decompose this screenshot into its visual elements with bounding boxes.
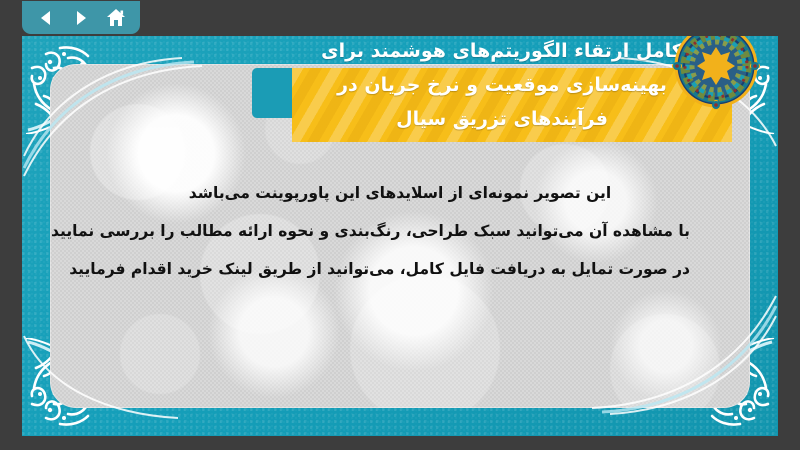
- bokeh-light: [120, 314, 200, 394]
- previous-button[interactable]: [33, 5, 59, 31]
- bokeh-light: [350, 274, 500, 408]
- home-icon: [106, 8, 126, 27]
- navigation-bar: [22, 1, 140, 34]
- body-line-3: در صورت تمایل به دریافت فایل کامل، می‌تو…: [110, 250, 690, 288]
- viewer-background: این تصویر نمونه‌ای از اسلایدهای این پاور…: [0, 0, 800, 450]
- slide-body-text: این تصویر نمونه‌ای از اسلایدهای این پاور…: [110, 174, 690, 288]
- triangle-right-icon: [72, 9, 90, 27]
- persian-medallion-ornament: [664, 36, 768, 118]
- slide-canvas: این تصویر نمونه‌ای از اسلایدهای این پاور…: [22, 36, 778, 436]
- triangle-left-icon: [37, 9, 55, 27]
- body-line-1: این تصویر نمونه‌ای از اسلایدهای این پاور…: [110, 174, 690, 212]
- bokeh-light: [610, 314, 720, 408]
- body-line-2: با مشاهده آن می‌توانید سبک طراحی، رنگ‌بن…: [110, 212, 690, 250]
- home-button[interactable]: [103, 5, 129, 31]
- next-button[interactable]: [68, 5, 94, 31]
